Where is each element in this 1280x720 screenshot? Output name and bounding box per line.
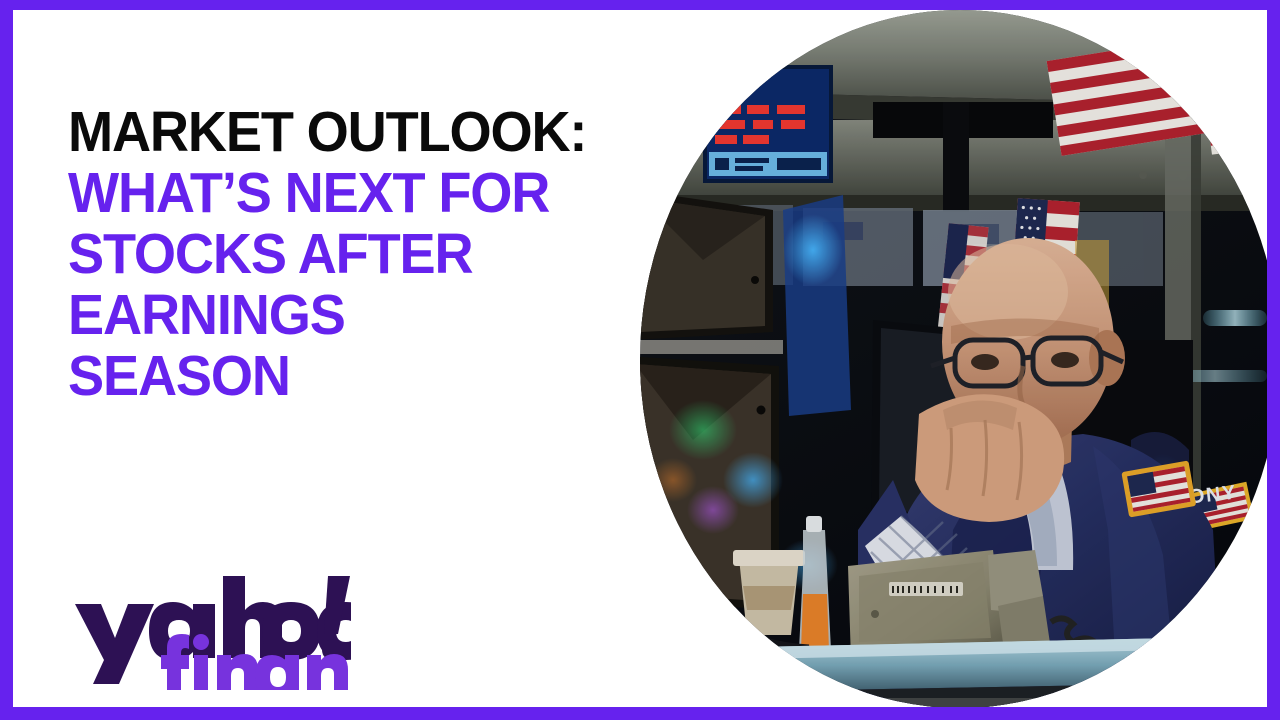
headline-line-2: WHAT’S NEXT FOR: [68, 163, 581, 224]
headline-line-3: STOCKS AFTER: [68, 224, 581, 285]
thumbnail-canvas: ANTHONY: [13, 10, 1267, 707]
yahoo-finance-logo: [71, 570, 351, 690]
headline-line-4: EARNINGS: [68, 285, 581, 346]
headline: MARKET OUTLOOK: WHAT’S NEXT FOR STOCKS A…: [68, 102, 608, 407]
video-thumbnail: ANTHONY: [0, 0, 1280, 720]
headline-line-1: MARKET OUTLOOK:: [68, 102, 581, 163]
headline-line-5: SEASON: [68, 346, 581, 407]
